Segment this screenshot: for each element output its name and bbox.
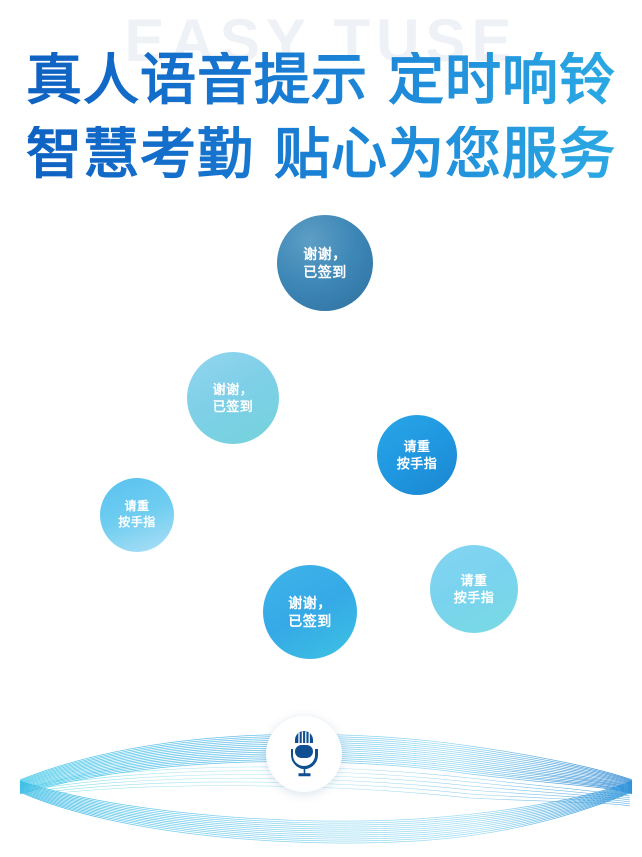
- speech-bubble: 请重 按手指: [430, 545, 518, 633]
- speech-bubble-line-2: 按手指: [454, 589, 495, 606]
- microphone-badge: [266, 716, 342, 792]
- speech-bubble: 谢谢， 已签到: [277, 215, 373, 311]
- speech-bubble-line-1: 谢谢，: [303, 245, 347, 263]
- speech-bubble: 谢谢， 已签到: [263, 565, 357, 659]
- poster-root: EASY TUSE 真人语音提示定时响铃 智慧考勤贴心为您服务 谢谢， 已签到 …: [0, 0, 642, 857]
- speech-bubble: 请重 按手指: [100, 478, 174, 552]
- speech-bubble-line-1: 谢谢，: [288, 594, 332, 612]
- speech-bubble-line-1: 谢谢，: [213, 381, 254, 398]
- speech-bubble-line-2: 按手指: [118, 515, 156, 531]
- speech-bubble-line-1: 请重: [124, 499, 149, 515]
- speech-bubble-line-1: 请重: [403, 438, 430, 455]
- speech-bubble-line-1: 请重: [460, 572, 487, 589]
- speech-bubble-line-2: 按手指: [397, 455, 438, 472]
- microphone-icon: [282, 729, 326, 779]
- speech-bubble-cluster: 谢谢， 已签到 谢谢， 已签到 请重 按手指 请重 按手指 谢谢， 已签到 请重…: [0, 0, 642, 700]
- speech-bubble-line-2: 已签到: [213, 398, 254, 415]
- speech-bubble: 请重 按手指: [377, 415, 457, 495]
- speech-bubble: 谢谢， 已签到: [187, 352, 279, 444]
- speech-bubble-line-2: 已签到: [288, 612, 332, 630]
- speech-bubble-line-2: 已签到: [303, 263, 347, 281]
